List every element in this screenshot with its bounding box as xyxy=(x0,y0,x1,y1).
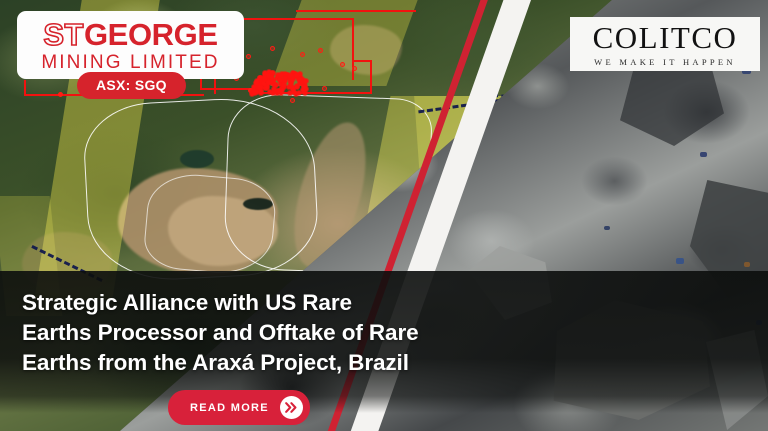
map-drill-hole-marker xyxy=(270,46,275,51)
mineral-fleck xyxy=(676,258,684,264)
mineral-fleck xyxy=(604,226,610,230)
map-drill-hole-marker xyxy=(274,83,278,87)
map-drill-hole-marker xyxy=(340,62,345,67)
logo-word-george: GEORGE xyxy=(84,19,218,50)
map-drill-hole-marker xyxy=(322,86,327,91)
headline-line-1: Strategic Alliance with US Rare xyxy=(22,288,452,318)
read-more-label: READ MORE xyxy=(190,402,269,414)
map-drill-hole-marker xyxy=(318,48,323,53)
headline-text: Strategic Alliance with US Rare Earths P… xyxy=(22,288,452,378)
map-drill-hole-cluster xyxy=(250,70,306,94)
map-drill-hole-marker xyxy=(304,79,308,83)
read-more-button[interactable]: READ MORE xyxy=(168,390,310,425)
map-survey-outline xyxy=(352,60,372,62)
st-george-mining-logo[interactable]: ST GEORGE MINING LIMITED xyxy=(17,11,244,79)
mineral-fleck xyxy=(700,152,707,157)
map-survey-outline xyxy=(296,10,416,12)
headline-line-2: Earths Processor and Offtake of Rare xyxy=(22,318,452,348)
map-drill-hole-marker xyxy=(278,78,282,82)
mineral-fleck xyxy=(744,262,750,267)
map-drill-hole-marker xyxy=(58,92,63,97)
logo-subtitle: MINING LIMITED xyxy=(41,53,219,72)
colitco-wordmark: COLITCO xyxy=(593,22,738,53)
map-drill-hole-marker xyxy=(303,91,307,95)
map-drill-hole-marker xyxy=(282,83,286,87)
logo-wordmark: ST GEORGE xyxy=(43,19,217,50)
map-drill-hole-marker xyxy=(246,54,251,59)
map-drill-hole-marker xyxy=(277,89,281,93)
map-survey-outline xyxy=(24,80,26,96)
map-drill-hole-marker xyxy=(292,90,296,94)
asx-ticker-badge: ASX: SGQ xyxy=(77,72,186,99)
double-chevron-right-icon xyxy=(280,396,303,419)
map-drill-hole-marker xyxy=(291,77,295,81)
logo-word-st: ST xyxy=(43,19,84,50)
news-hero-banner: ST GEORGE MINING LIMITED ASX: SGQ COLITC… xyxy=(0,0,768,431)
colitco-publisher-logo[interactable]: COLITCO WE MAKE IT HAPPEN xyxy=(570,17,760,71)
map-survey-outline xyxy=(370,60,372,94)
map-drill-hole-marker xyxy=(352,66,357,71)
map-drill-hole-marker xyxy=(268,90,272,94)
colitco-tagline: WE MAKE IT HAPPEN xyxy=(594,58,736,67)
headline-line-3: Earths from the Araxá Project, Brazil xyxy=(22,348,452,378)
map-drill-hole-marker xyxy=(300,52,305,57)
map-drill-hole-marker xyxy=(279,74,283,78)
map-property-boundary xyxy=(142,171,278,278)
map-drill-hole-marker xyxy=(297,91,301,95)
map-drill-hole-marker xyxy=(290,98,295,103)
